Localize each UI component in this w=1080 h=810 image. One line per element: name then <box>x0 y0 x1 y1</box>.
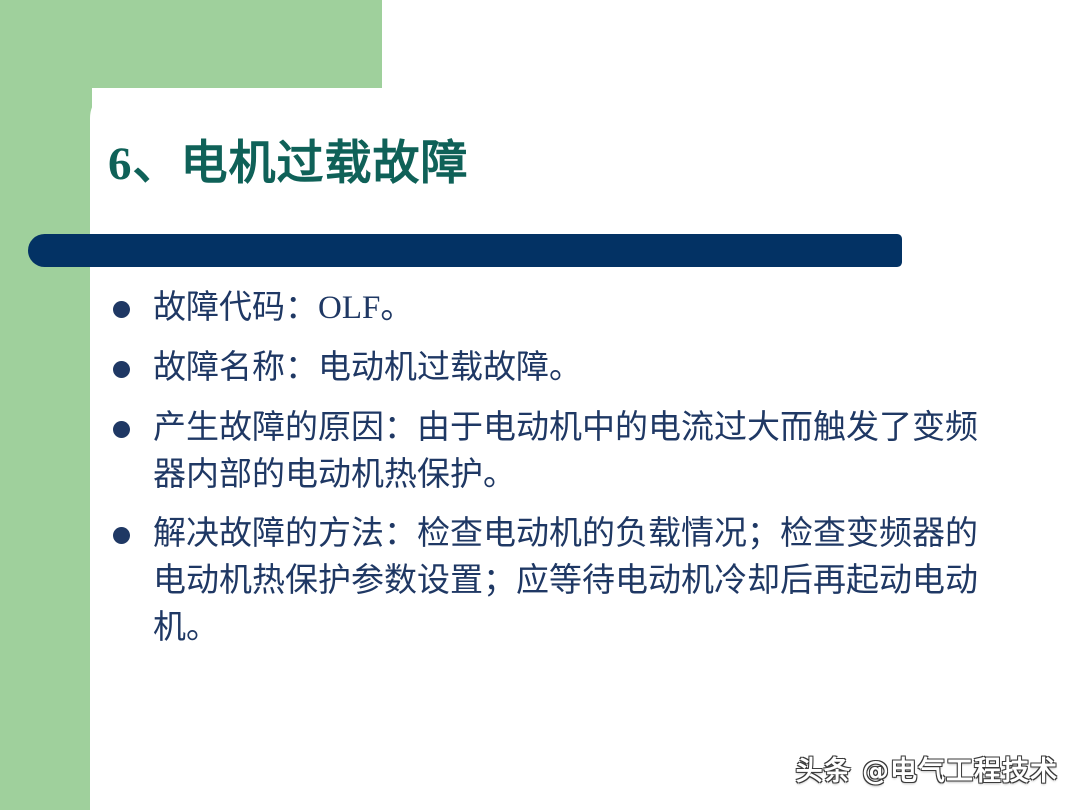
bullet-dot-icon <box>113 527 130 544</box>
list-item-text: 解决故障的方法：检查电动机的负载情况；检查变频器的电动机热保护参数设置；应等待电… <box>153 511 1008 652</box>
page-title: 6、电机过载故障 <box>108 137 469 191</box>
list-item: 解决故障的方法：检查电动机的负载情况；检查变频器的电动机热保护参数设置；应等待电… <box>108 511 1008 652</box>
green-top-block-decoration <box>0 0 382 88</box>
list-item: 故障代码：OLF。 <box>108 285 1008 332</box>
bullet-list: 故障代码：OLF。 故障名称：电动机过载故障。 产生故障的原因：由于电动机中的电… <box>108 285 1008 665</box>
green-side-strip-decoration <box>0 0 92 810</box>
bullet-dot-icon <box>113 361 130 378</box>
list-item-text: 产生故障的原因：由于电动机中的电流过大而触发了变频器内部的电动机热保护。 <box>153 405 1008 499</box>
watermark-label: 头条 @电气工程技术 <box>796 749 1058 788</box>
list-item-text: 故障名称：电动机过载故障。 <box>153 345 1008 392</box>
list-item: 故障名称：电动机过载故障。 <box>108 345 1008 392</box>
list-item-text: 故障代码：OLF。 <box>153 285 1008 332</box>
title-divider-bar <box>28 234 902 267</box>
bullet-dot-icon <box>113 421 130 438</box>
list-item: 产生故障的原因：由于电动机中的电流过大而触发了变频器内部的电动机热保护。 <box>108 405 1008 499</box>
presentation-slide: 6、电机过载故障 故障代码：OLF。 故障名称：电动机过载故障。 产生故障的原因… <box>0 0 1080 810</box>
bullet-dot-icon <box>113 301 130 318</box>
